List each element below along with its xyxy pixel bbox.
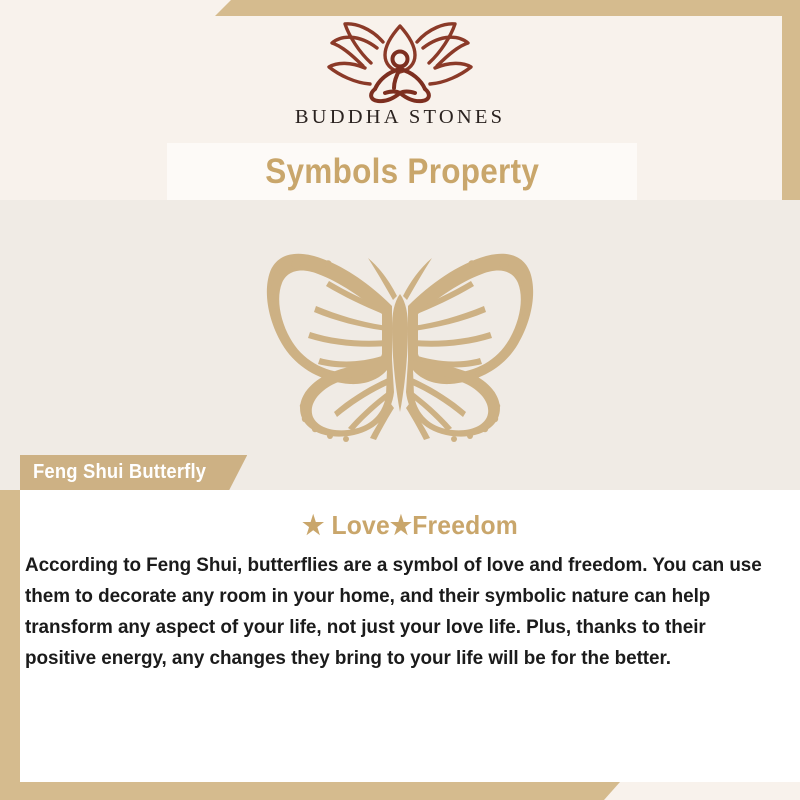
description-paragraph: According to Feng Shui, butterflies are … bbox=[25, 550, 780, 674]
poster-canvas: BUDDHA STONES Symbols Property bbox=[0, 0, 800, 800]
lotus-meditation-figure-icon bbox=[315, 18, 485, 104]
tag-label: Feng Shui Butterfly bbox=[33, 461, 206, 484]
description-panel: ★ Love★Freedom According to Feng Shui, b… bbox=[20, 490, 800, 782]
brand-wordmark: BUDDHA STONES bbox=[295, 106, 505, 129]
keywords-heading: ★ Love★Freedom bbox=[40, 510, 781, 541]
page-title: Symbols Property bbox=[265, 152, 539, 192]
frame-band-bottom bbox=[0, 782, 620, 800]
butterfly-icon bbox=[230, 236, 570, 451]
status-badge: Feng Shui Butterfly bbox=[20, 455, 247, 490]
brand-header: BUDDHA STONES bbox=[0, 0, 800, 143]
illustration-panel bbox=[0, 200, 800, 490]
title-band: Symbols Property bbox=[167, 143, 637, 200]
